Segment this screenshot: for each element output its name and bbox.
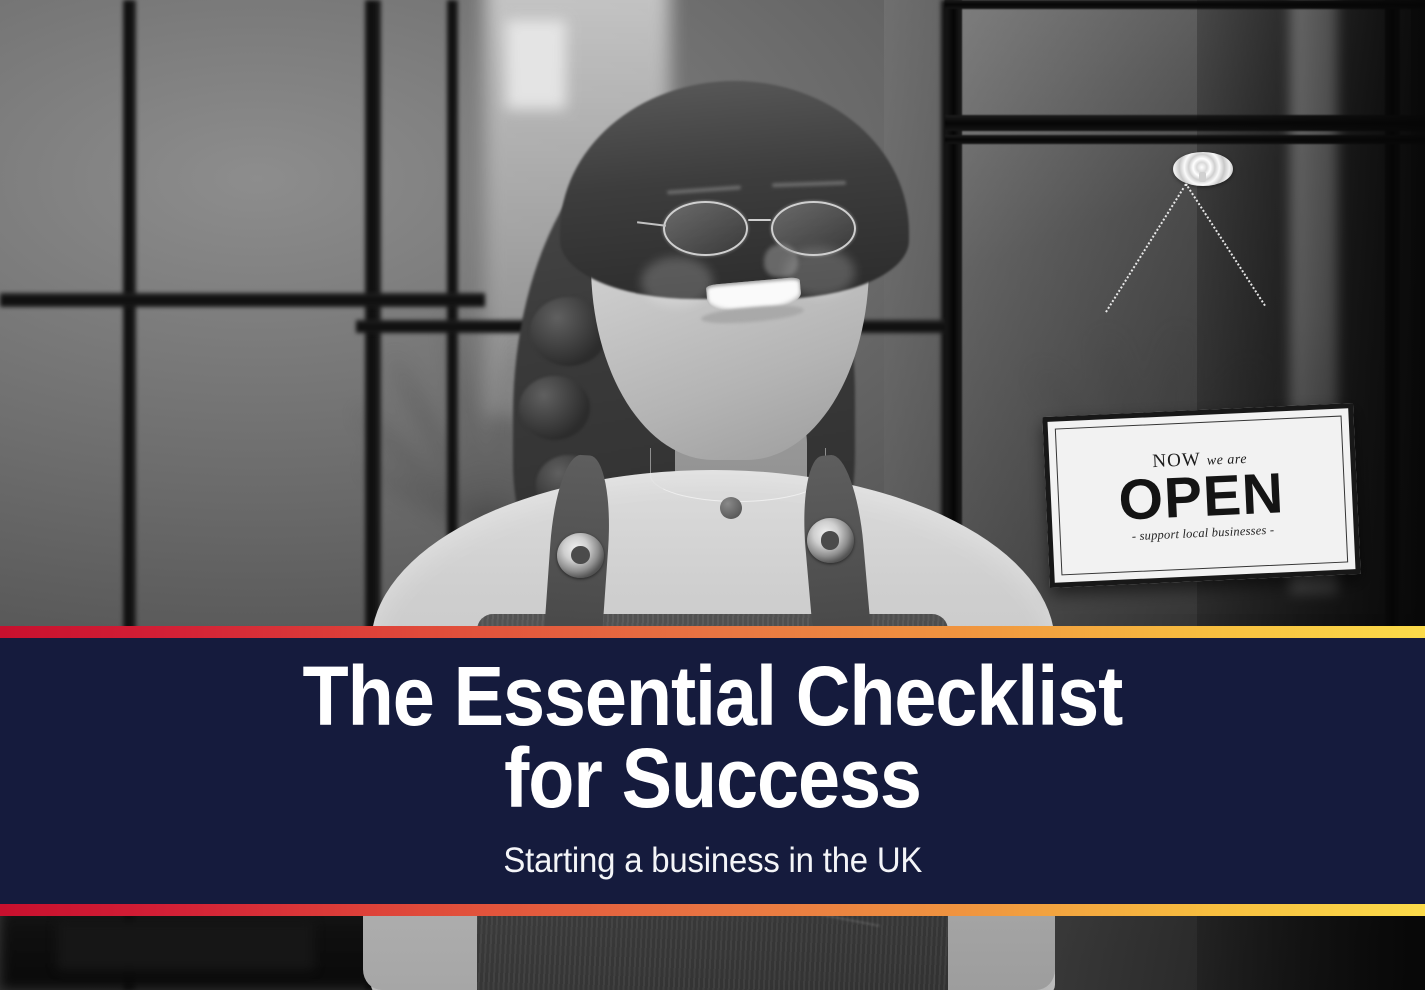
- nose: [764, 244, 798, 278]
- subtitle: Starting a business in the UK: [503, 841, 922, 881]
- eyeglass-bridge: [748, 219, 771, 221]
- eyeglasses: [663, 201, 857, 256]
- apron-grommet-right: [807, 518, 854, 564]
- headline-line-2: for Success: [504, 737, 921, 819]
- open-sign-open-text: OPEN: [1117, 466, 1285, 528]
- banner-content: The Essential Checklist for Success Star…: [0, 638, 1425, 904]
- eyeglass-lens-left: [663, 201, 748, 256]
- gradient-rule-top: [0, 626, 1425, 638]
- headline-line-1: The Essential Checklist: [303, 655, 1123, 737]
- hair-curl-2: [519, 376, 590, 439]
- suction-cup-hook: [1173, 152, 1233, 186]
- open-sign: NOW we are OPEN - support local business…: [1042, 403, 1360, 588]
- apron-grommet-left: [557, 533, 604, 579]
- hair-crown: [560, 81, 909, 299]
- cheek-highlight-left: [641, 257, 712, 307]
- necklace-pendant: [720, 497, 742, 519]
- title-banner: The Essential Checklist for Success Star…: [0, 626, 1425, 916]
- necklace-chain: [650, 448, 827, 501]
- open-sign-inner-border: NOW we are OPEN - support local business…: [1055, 415, 1348, 575]
- poster-root: NOW we are OPEN - support local business…: [0, 0, 1425, 990]
- gradient-rule-bottom: [0, 904, 1425, 916]
